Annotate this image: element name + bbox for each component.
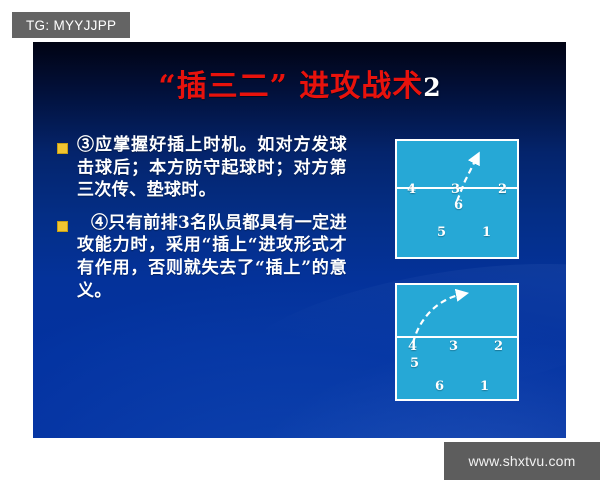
volleyball-court-diagram-top: 4 3 2 6 5 1 bbox=[395, 139, 519, 259]
court-position: 1 bbox=[480, 380, 489, 393]
court-position: 2 bbox=[498, 183, 507, 196]
court-position: 6 bbox=[435, 380, 444, 393]
slide-title: “插三二” 进攻战术2 bbox=[33, 70, 566, 103]
slide-body: ③应掌握好插上时机。如对方发球击球后；本方防守起球时；对方第三次传、垫球时。 ④… bbox=[57, 134, 347, 312]
court-position: 5 bbox=[410, 357, 419, 370]
volleyball-court-diagram-bottom: 4 3 2 5 6 1 bbox=[395, 283, 519, 401]
tg-badge: TG: MYYJJPP bbox=[12, 12, 130, 38]
bullet-square-icon bbox=[57, 221, 68, 232]
court-position: 3 bbox=[449, 340, 458, 353]
slide-title-number: 2 bbox=[423, 73, 440, 102]
site-watermark: www.shxtvu.com bbox=[444, 442, 600, 480]
site-watermark-label: www.shxtvu.com bbox=[468, 453, 575, 469]
court-position: 4 bbox=[408, 340, 417, 353]
court-position: 6 bbox=[454, 199, 463, 212]
bullet-square-icon bbox=[57, 143, 68, 154]
court-position: 5 bbox=[437, 226, 446, 239]
court-position: 4 bbox=[407, 183, 416, 196]
court-position: 2 bbox=[494, 340, 503, 353]
tg-badge-label: TG: MYYJJPP bbox=[26, 18, 116, 33]
bullet-text: ④只有前排3名队员都具有一定进攻能力时，采用“插上“进攻形式才有作用，否则就失去… bbox=[77, 212, 347, 302]
court-position: 1 bbox=[482, 226, 491, 239]
presentation-slide: “插三二” 进攻战术2 ③应掌握好插上时机。如对方发球击球后；本方防守起球时；对… bbox=[33, 42, 566, 438]
list-item: ④只有前排3名队员都具有一定进攻能力时，采用“插上“进攻形式才有作用，否则就失去… bbox=[57, 212, 347, 302]
bullet-text: ③应掌握好插上时机。如对方发球击球后；本方防守起球时；对方第三次传、垫球时。 bbox=[77, 134, 347, 202]
list-item: ③应掌握好插上时机。如对方发球击球后；本方防守起球时；对方第三次传、垫球时。 bbox=[57, 134, 347, 202]
court-position: 3 bbox=[451, 183, 460, 196]
slide-title-main: “插三二” 进攻战术 bbox=[158, 69, 423, 104]
